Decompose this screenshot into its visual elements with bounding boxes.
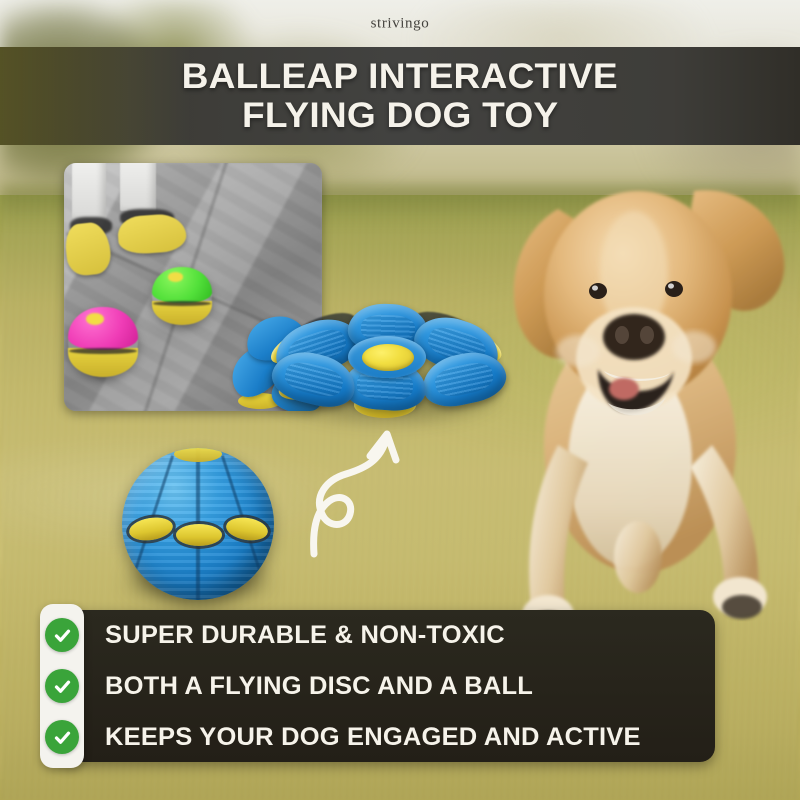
brand-logo-text: strivingo: [0, 16, 800, 33]
inset-ball-pink: [68, 307, 138, 377]
inset-leg-left: [72, 163, 106, 219]
flying-disc-product: [262, 298, 510, 430]
ball-slit-center: [176, 524, 222, 546]
feature-label: SUPER DURABLE & NON-TOXIC: [105, 621, 505, 650]
dog-illustration: [462, 145, 800, 645]
title-line-1: BALLEAP INTERACTIVE: [182, 58, 618, 96]
feature-item: KEEPS YOUR DOG ENGAGED AND ACTIVE: [40, 716, 720, 758]
feature-label: KEEPS YOUR DOG ENGAGED AND ACTIVE: [105, 723, 641, 752]
product-ad-image: strivingo BALLEAP INTERACTIVE FLYING DOG…: [0, 0, 800, 800]
check-circle-icon: [45, 669, 79, 703]
title-line-2: FLYING DOG TOY: [242, 97, 558, 135]
inset-leg-right: [120, 163, 156, 211]
ball-band: [153, 301, 211, 306]
feature-label: BOTH A FLYING DISC AND A BALL: [105, 672, 533, 701]
features-list: SUPER DURABLE & NON-TOXIC BOTH A FLYING …: [40, 604, 720, 768]
inset-ball-green: [152, 267, 212, 325]
check-circle-icon: [45, 618, 79, 652]
disc-center-yellow: [362, 344, 414, 371]
petal-ribs: [283, 359, 345, 401]
feature-item: BOTH A FLYING DISC AND A BALL: [40, 665, 720, 707]
feature-item: SUPER DURABLE & NON-TOXIC: [40, 614, 720, 656]
running-dog-photo: [462, 145, 800, 645]
ball-band: [69, 348, 136, 354]
brand-bar: strivingo: [0, 0, 800, 48]
flying-ball-product: [122, 448, 274, 600]
transform-arrow: [284, 418, 434, 558]
arrow-icon: [284, 418, 434, 558]
check-circle-icon: [45, 720, 79, 754]
page-title: BALLEAP INTERACTIVE FLYING DOG TOY: [0, 47, 800, 145]
petal-ribs: [433, 359, 495, 399]
